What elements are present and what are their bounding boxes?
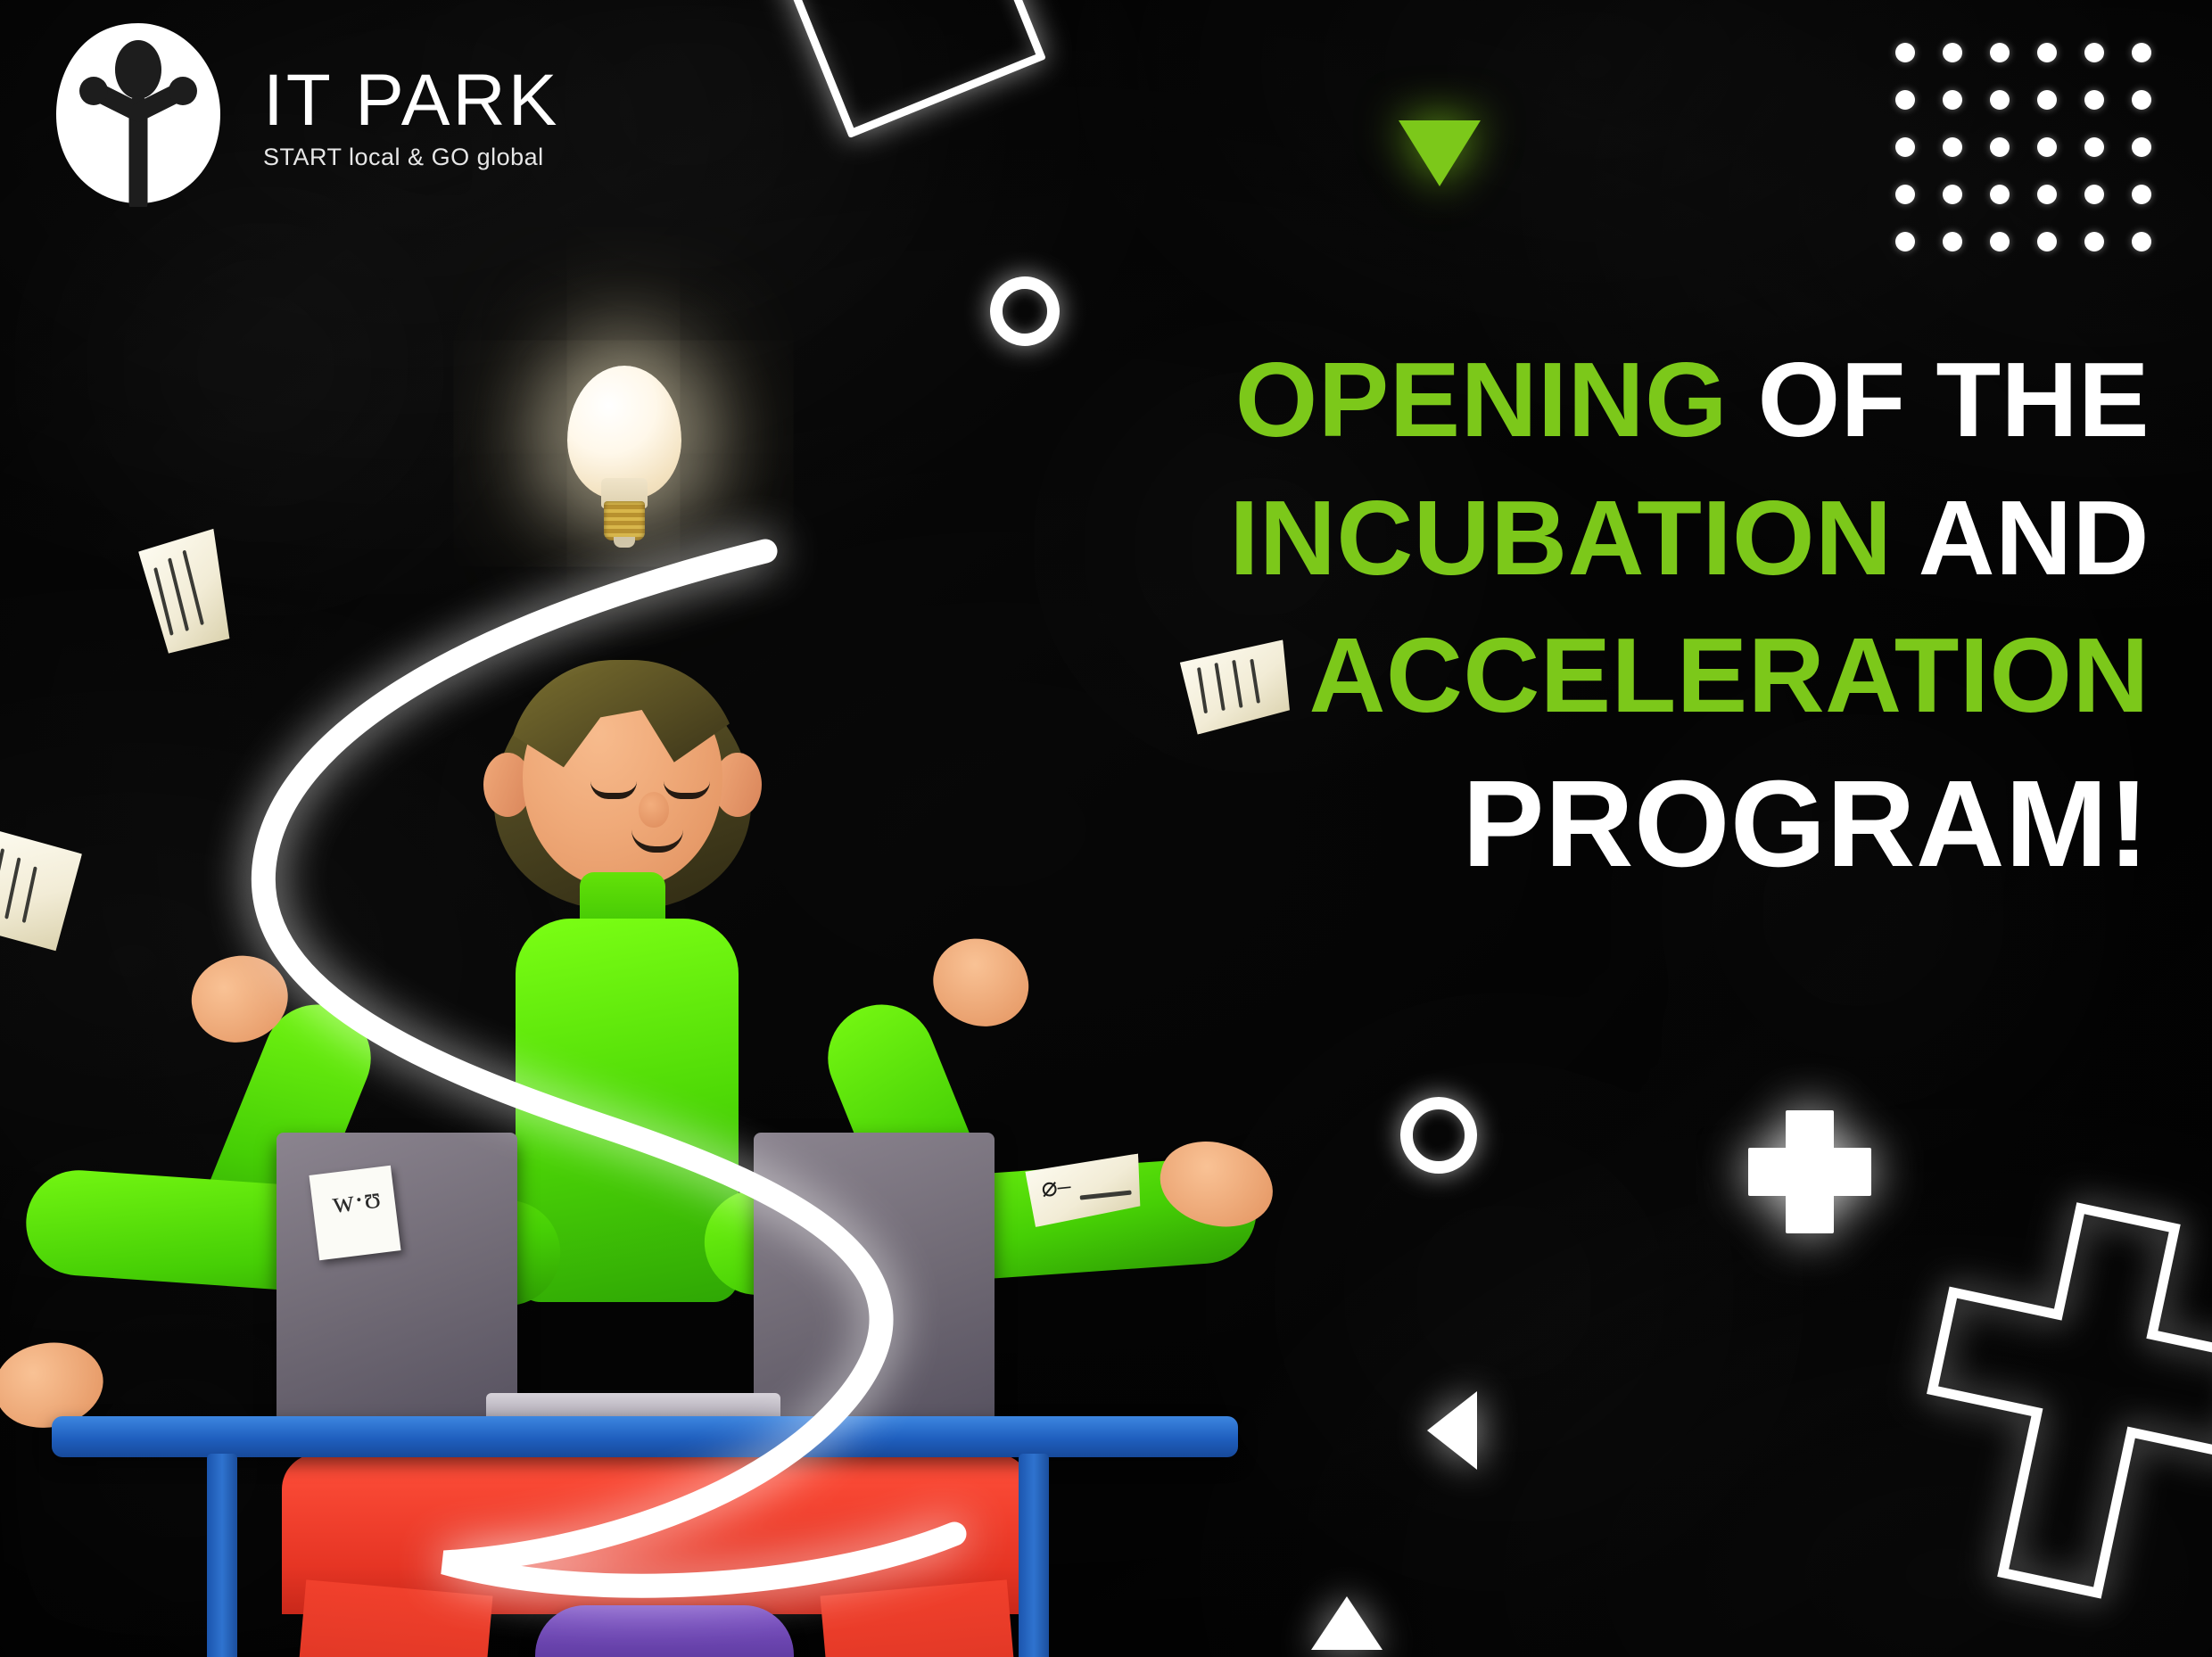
character-eye-left: [590, 781, 637, 799]
grid-dot: [1943, 90, 1962, 110]
triangle-down-shape: [1399, 120, 1481, 186]
headline-line-4: PROGRAM!: [1222, 749, 2150, 899]
desk-leg-left: [207, 1454, 237, 1657]
office-chair-seat: [535, 1605, 794, 1657]
headline-line-2: INCUBATION AND: [1222, 470, 2150, 608]
character-hand-right: [922, 927, 1040, 1039]
desk-leg-right: [1019, 1454, 1049, 1657]
grid-dot: [2037, 43, 2057, 62]
grid-dot: [1895, 185, 1915, 204]
headline-word-acceleration: ACCELERATION: [1308, 616, 2150, 735]
grid-dot: [2132, 232, 2151, 251]
bulb-tip: [614, 537, 635, 548]
monitor-right: [754, 1133, 995, 1422]
character-mouth: [631, 829, 683, 853]
3d-character-illustration: w·ʊ ⌁: [0, 294, 1356, 1657]
promo-banner: IT PARK START local & GO global: [0, 0, 2212, 1657]
grid-dot: [1943, 137, 1962, 157]
grid-dot: [1990, 43, 2010, 62]
grid-dot: [2084, 232, 2104, 251]
plus-solid-shape: [1748, 1110, 1871, 1233]
headline-word-opening: OPENING: [1235, 341, 1728, 459]
grid-dot: [1990, 137, 2010, 157]
grid-dot: [1990, 185, 2010, 204]
character-nose: [639, 792, 669, 828]
ring-outline-shape: [1400, 1097, 1477, 1174]
headline-word-incubation: INCUBATION: [1229, 479, 1892, 598]
grid-dot: [2037, 137, 2057, 157]
grid-dot: [1943, 43, 1962, 62]
person-in-leaf-icon: [49, 20, 227, 207]
headline-word-of-the: OF THE: [1728, 341, 2150, 459]
grid-dot: [2084, 90, 2104, 110]
brand-logo[interactable]: IT PARK START local & GO global: [49, 20, 559, 207]
grid-dot: [2084, 185, 2104, 204]
grid-dot: [2132, 90, 2151, 110]
grid-dot: [1895, 90, 1915, 110]
lightbulb-icon: [567, 366, 681, 544]
grid-dot: [2084, 43, 2104, 62]
grid-dot: [1943, 232, 1962, 251]
grid-dot: [1990, 90, 2010, 110]
brand-text-block: IT PARK START local & GO global: [263, 55, 559, 172]
grid-dot: [1990, 232, 2010, 251]
grid-dot: [2084, 137, 2104, 157]
sticky-note: w·ʊ: [309, 1166, 400, 1260]
headline-line-1: OPENING OF THE: [1222, 332, 2150, 470]
headline-block: OPENING OF THE INCUBATION AND ACCELERATI…: [1222, 332, 2150, 899]
headline-word-and: AND: [1893, 479, 2150, 598]
grid-dot: [2037, 90, 2057, 110]
sticky-note-doodle: w·ʊ: [331, 1183, 383, 1219]
triangle-left-shape: [1427, 1391, 1477, 1470]
signature-doodle: ⌀⎯: [1040, 1170, 1073, 1204]
brand-name: IT PARK: [263, 66, 559, 136]
grid-dot: [1943, 185, 1962, 204]
grid-dot: [2132, 185, 2151, 204]
grid-dot: [2037, 232, 2057, 251]
grid-dot: [2132, 137, 2151, 157]
brand-tagline: START local & GO global: [263, 144, 559, 171]
desk-top: [52, 1416, 1238, 1457]
headline-line-3: ACCELERATION: [1222, 607, 2150, 746]
grid-dot: [1895, 137, 1915, 157]
headline-word-program: PROGRAM!: [1462, 755, 2150, 893]
grid-dot: [2132, 43, 2151, 62]
monitor-left: w·ʊ: [276, 1133, 517, 1422]
character-eye-right: [664, 781, 710, 799]
grid-dot: [2037, 185, 2057, 204]
dot-grid-decoration: [1895, 43, 2151, 251]
grid-dot: [1895, 232, 1915, 251]
bulb-screw-base: [604, 501, 645, 540]
grid-dot: [1895, 43, 1915, 62]
